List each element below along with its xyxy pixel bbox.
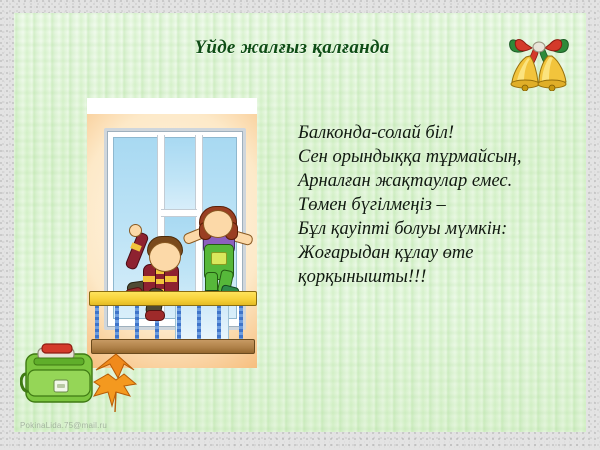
railing-bar xyxy=(217,305,221,342)
railing-bar xyxy=(239,305,243,342)
railing-bar xyxy=(197,305,201,342)
railing-bar xyxy=(177,305,181,342)
slide: Үйде жалғыз қалғанда xyxy=(0,0,600,450)
poem-line: қорқынышты!!! xyxy=(298,265,568,289)
girl-character xyxy=(183,208,249,300)
poem-text: Балконда-солай біл! Сен орындыққа тұрмай… xyxy=(298,121,568,289)
page-title: Үйде жалғыз қалғанда xyxy=(142,37,442,59)
children-on-balcony-illustration xyxy=(87,98,257,368)
poem-line: Бұл қауіпті болуы мүмкін: xyxy=(298,217,568,241)
boy-head xyxy=(149,242,181,272)
poem-line: Сен орындыққа тұрмайсың, xyxy=(298,145,568,169)
girl-overalls-pocket xyxy=(211,252,227,265)
illustration-top-white-band xyxy=(87,98,257,114)
window-pane-middle-top xyxy=(163,137,197,211)
boy-hand xyxy=(129,224,142,237)
watermark-text: PokinaLida.75@mail.ru xyxy=(20,421,107,430)
poem-line: Төмен бүгілмеңіз – xyxy=(298,193,568,217)
schoolbag-with-maple-leaf-icon xyxy=(20,334,140,414)
poem-line: Арналған жақтаулар емес. xyxy=(298,169,568,193)
boy-shoe-back xyxy=(145,310,165,321)
girl-head xyxy=(203,210,233,238)
school-bells-icon xyxy=(504,27,574,91)
poem-line: Балконда-солай біл! xyxy=(298,121,568,145)
poem-line: Жоғарыдан құлау өте xyxy=(298,241,568,265)
balcony-railing-top-bar xyxy=(89,291,257,306)
slide-canvas: Үйде жалғыз қалғанда xyxy=(14,13,586,432)
